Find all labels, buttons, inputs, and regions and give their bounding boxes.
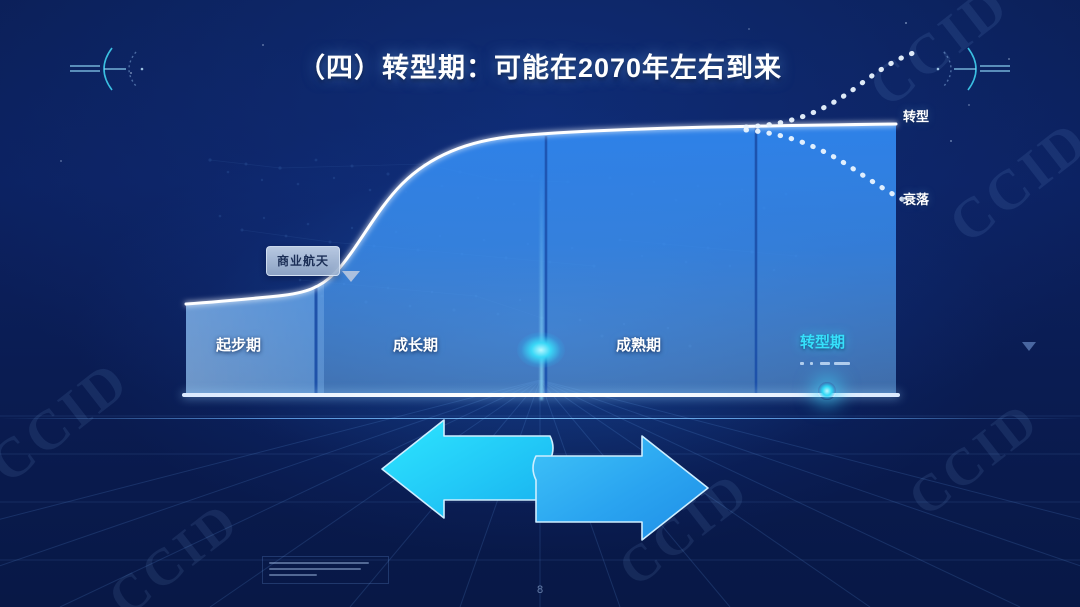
bidirectional-arrows bbox=[380, 418, 710, 548]
right-arrow bbox=[533, 436, 708, 540]
mini-dash-decoration bbox=[800, 360, 860, 368]
stage-label-maturity: 成熟期 bbox=[616, 334, 661, 355]
watermark-ccid: CCID bbox=[0, 348, 142, 496]
watermark-ccid: CCID bbox=[937, 108, 1080, 256]
stage-label-startup: 起步期 bbox=[216, 334, 261, 355]
triangle-marker-icon bbox=[1022, 342, 1036, 351]
down-triangle-pointer-icon bbox=[342, 271, 360, 282]
stage-label-growth: 成长期 bbox=[393, 334, 438, 355]
left-arrow bbox=[382, 420, 553, 518]
end-label-decline: 衰落 bbox=[903, 189, 929, 208]
end-label-transformation: 转型 bbox=[903, 106, 929, 125]
callout-label: 商业航天 bbox=[266, 246, 340, 276]
commercial-aerospace-callout[interactable]: 商业航天 bbox=[266, 246, 340, 276]
transformation-glow-marker bbox=[818, 382, 836, 400]
chart-baseline bbox=[182, 393, 900, 397]
page-title: （四）转型期：可能在2070年左右到来 bbox=[0, 46, 1080, 85]
stage-label-transformation: 转型期 bbox=[800, 331, 845, 352]
footnote-box-decoration bbox=[262, 556, 389, 584]
watermark-ccid: CCID bbox=[898, 390, 1052, 528]
center-glow bbox=[517, 332, 565, 368]
page-number: 8 bbox=[0, 584, 1080, 596]
slide-canvas: CCID CCID CCID CCID CCID CCID （四）转型期：可能在… bbox=[0, 0, 1080, 607]
